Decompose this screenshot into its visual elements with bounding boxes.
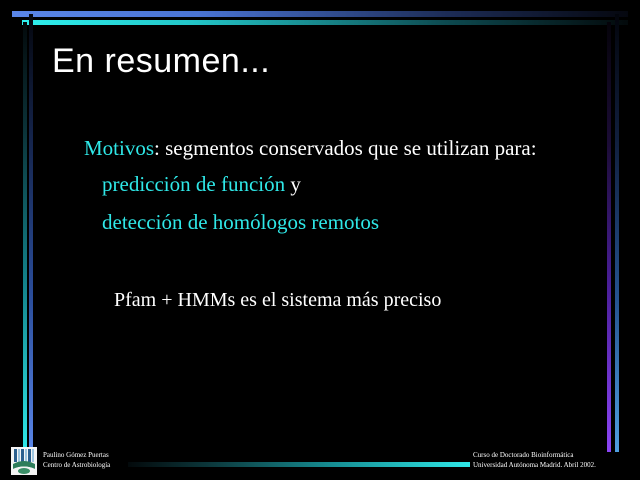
left-cyan-rule <box>23 22 27 452</box>
footer-author: Paulino Gómez Puertas Centro de Astrobio… <box>43 450 110 470</box>
bullet-plain-text: y <box>285 172 301 196</box>
bullet-line-deteccion: detección de homólogos remotos <box>102 210 379 235</box>
bullet-accent-text: Motivos <box>84 136 154 160</box>
footer-author-name: Paulino Gómez Puertas <box>43 450 110 460</box>
bullet-line-prediccion: predicción de función y <box>102 172 301 197</box>
top-cyan-rule <box>22 20 628 25</box>
bullet-accent-text: detección de homólogos remotos <box>102 210 379 234</box>
bullet-plain-text: : segmentos conservados que se utilizan … <box>154 136 537 160</box>
left-blue-rule <box>29 14 33 452</box>
slide-title: En resumen... <box>52 42 270 81</box>
footer-blue-rule <box>128 452 470 457</box>
footer-author-affiliation: Centro de Astrobiología <box>43 460 110 470</box>
institution-logo <box>11 447 37 475</box>
logo-graphic <box>11 447 37 475</box>
footer-course-name: Curso de Doctorado Bioinformática <box>473 450 596 460</box>
conclusion-line: Pfam + HMMs es el sistema más preciso <box>114 289 441 312</box>
top-blue-rule <box>12 11 628 17</box>
presentation-slide: En resumen... Motivos: segmentos conserv… <box>0 0 640 480</box>
right-purple-rule <box>607 22 611 452</box>
right-blue-rule <box>615 14 619 452</box>
footer-course: Curso de Doctorado Bioinformática Univer… <box>473 450 596 470</box>
footer-course-institution: Universidad Autónoma Madrid. Abril 2002. <box>473 460 596 470</box>
bullet-accent-text: predicción de función <box>102 172 285 196</box>
bullet-line-motivos: Motivos: segmentos conservados que se ut… <box>84 136 537 161</box>
footer-cyan-rule <box>128 462 470 467</box>
